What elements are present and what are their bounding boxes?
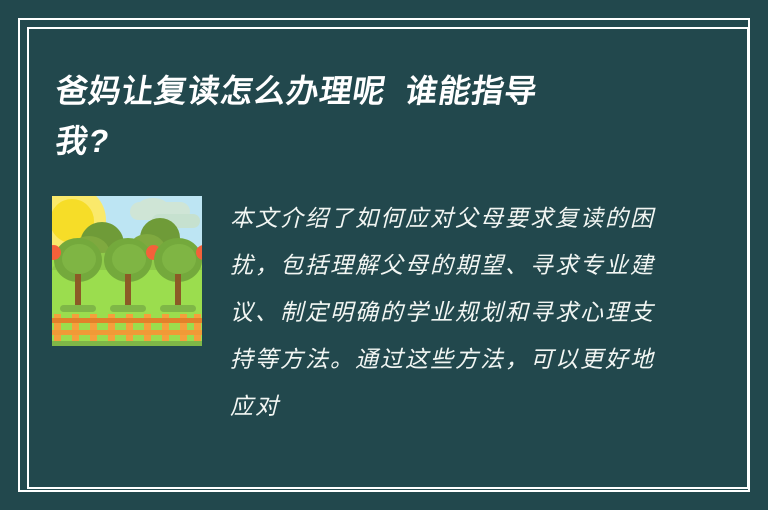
orchard-illustration: [52, 196, 202, 346]
fence-rail-bottom: [52, 330, 202, 335]
tree-trunk: [175, 274, 181, 306]
tree-trunk: [75, 274, 81, 306]
title-line-1: 爸妈让复读怎么办理呢 谁能指导: [52, 66, 700, 116]
tree-crown-highlight: [62, 244, 96, 274]
article-card: 爸妈让复读怎么办理呢 谁能指导 我?: [0, 0, 768, 510]
cloud-icon-3: [138, 198, 168, 214]
ground-strip: [52, 341, 202, 346]
tree-base: [160, 305, 196, 312]
tree-crown-highlight: [112, 244, 146, 274]
fence-rail-top: [52, 318, 202, 323]
tree-crown-highlight: [162, 244, 196, 274]
tree-trunk: [125, 274, 131, 306]
tree-base: [60, 305, 96, 312]
article-content: 本文介绍了如何应对父母要求复读的困扰，包括理解父母的期望、寻求专业建议、制定明确…: [52, 196, 698, 431]
wooden-fence: [52, 312, 202, 342]
title-line-2: 我?: [52, 116, 700, 166]
tree-base: [110, 305, 146, 312]
article-summary: 本文介绍了如何应对父母要求复读的困扰，包括理解父母的期望、寻求专业建议、制定明确…: [230, 196, 660, 431]
page-title: 爸妈让复读怎么办理呢 谁能指导 我?: [52, 66, 692, 166]
